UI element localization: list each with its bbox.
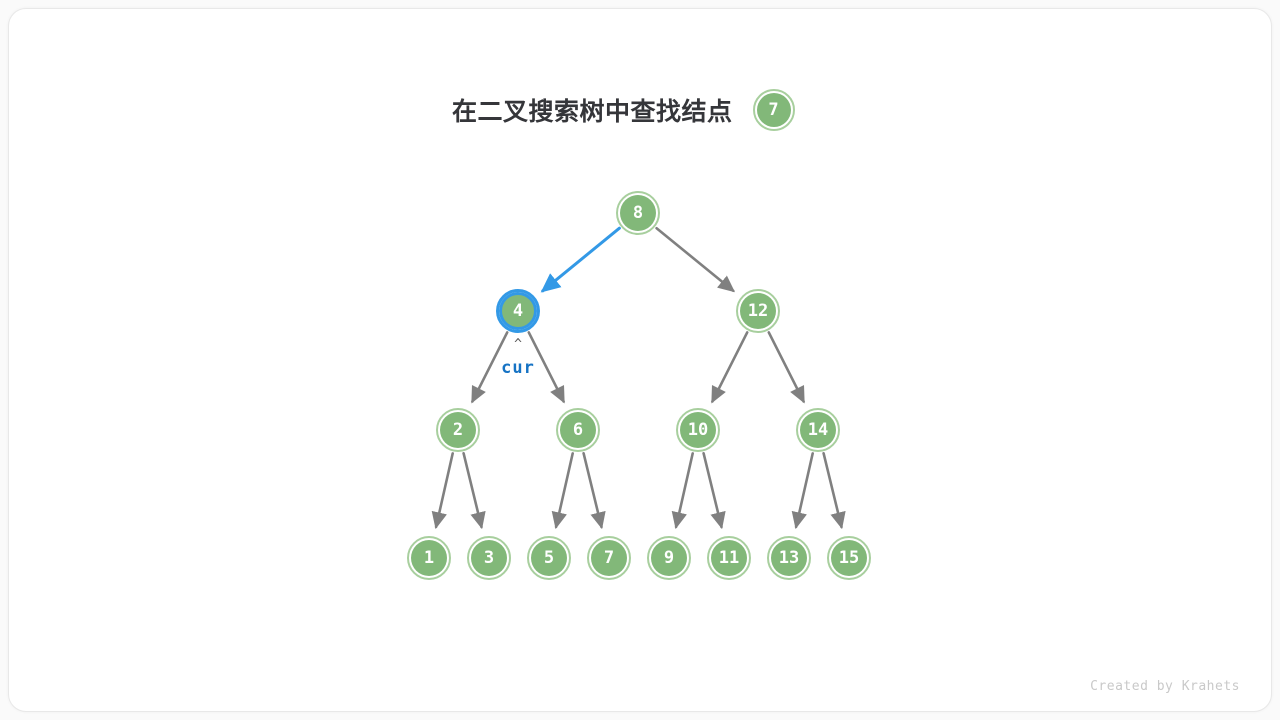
badge-value: 7 — [757, 93, 791, 127]
tree-node-14[interactable]: 14 — [796, 408, 840, 452]
tree-node-15[interactable]: 15 — [827, 536, 871, 580]
node-value: 15 — [831, 540, 867, 576]
tree-node-13[interactable]: 13 — [767, 536, 811, 580]
search-target-badge: 7 — [753, 89, 795, 131]
cursor-pointer-marker: ^ cur — [495, 338, 541, 378]
tree-node-10[interactable]: 10 — [676, 408, 720, 452]
node-value: 10 — [680, 412, 716, 448]
tree-node-1[interactable]: 1 — [407, 536, 451, 580]
tree-node-12[interactable]: 12 — [736, 289, 780, 333]
cursor-pointer-label: cur — [495, 358, 541, 378]
node-value: 11 — [711, 540, 747, 576]
caret-icon: ^ — [495, 338, 541, 352]
node-value: 2 — [440, 412, 476, 448]
tree-node-7[interactable]: 7 — [587, 536, 631, 580]
tree-node-5[interactable]: 5 — [527, 536, 571, 580]
tree-node-9[interactable]: 9 — [647, 536, 691, 580]
node-value: 13 — [771, 540, 807, 576]
node-value: 5 — [531, 540, 567, 576]
node-value: 3 — [471, 540, 507, 576]
tree-node-2[interactable]: 2 — [436, 408, 480, 452]
tree-node-11[interactable]: 11 — [707, 536, 751, 580]
tree-node-3[interactable]: 3 — [467, 536, 511, 580]
node-value: 6 — [560, 412, 596, 448]
node-value: 14 — [800, 412, 836, 448]
node-value: 7 — [591, 540, 627, 576]
diagram-page: 在二叉搜索树中查找结点 7 841226101413579111315 ^ cu… — [0, 0, 1280, 720]
page-title: 在二叉搜索树中查找结点 7 — [452, 88, 795, 132]
title-label: 在二叉搜索树中查找结点 — [452, 92, 733, 128]
node-value: 1 — [411, 540, 447, 576]
node-value: 8 — [620, 195, 656, 231]
tree-node-4[interactable]: 4 — [496, 289, 540, 333]
tree-node-8[interactable]: 8 — [616, 191, 660, 235]
node-value: 4 — [499, 292, 537, 330]
tree-node-6[interactable]: 6 — [556, 408, 600, 452]
footer-credit: Created by Krahets — [1090, 679, 1240, 694]
node-value: 12 — [740, 293, 776, 329]
node-value: 9 — [651, 540, 687, 576]
